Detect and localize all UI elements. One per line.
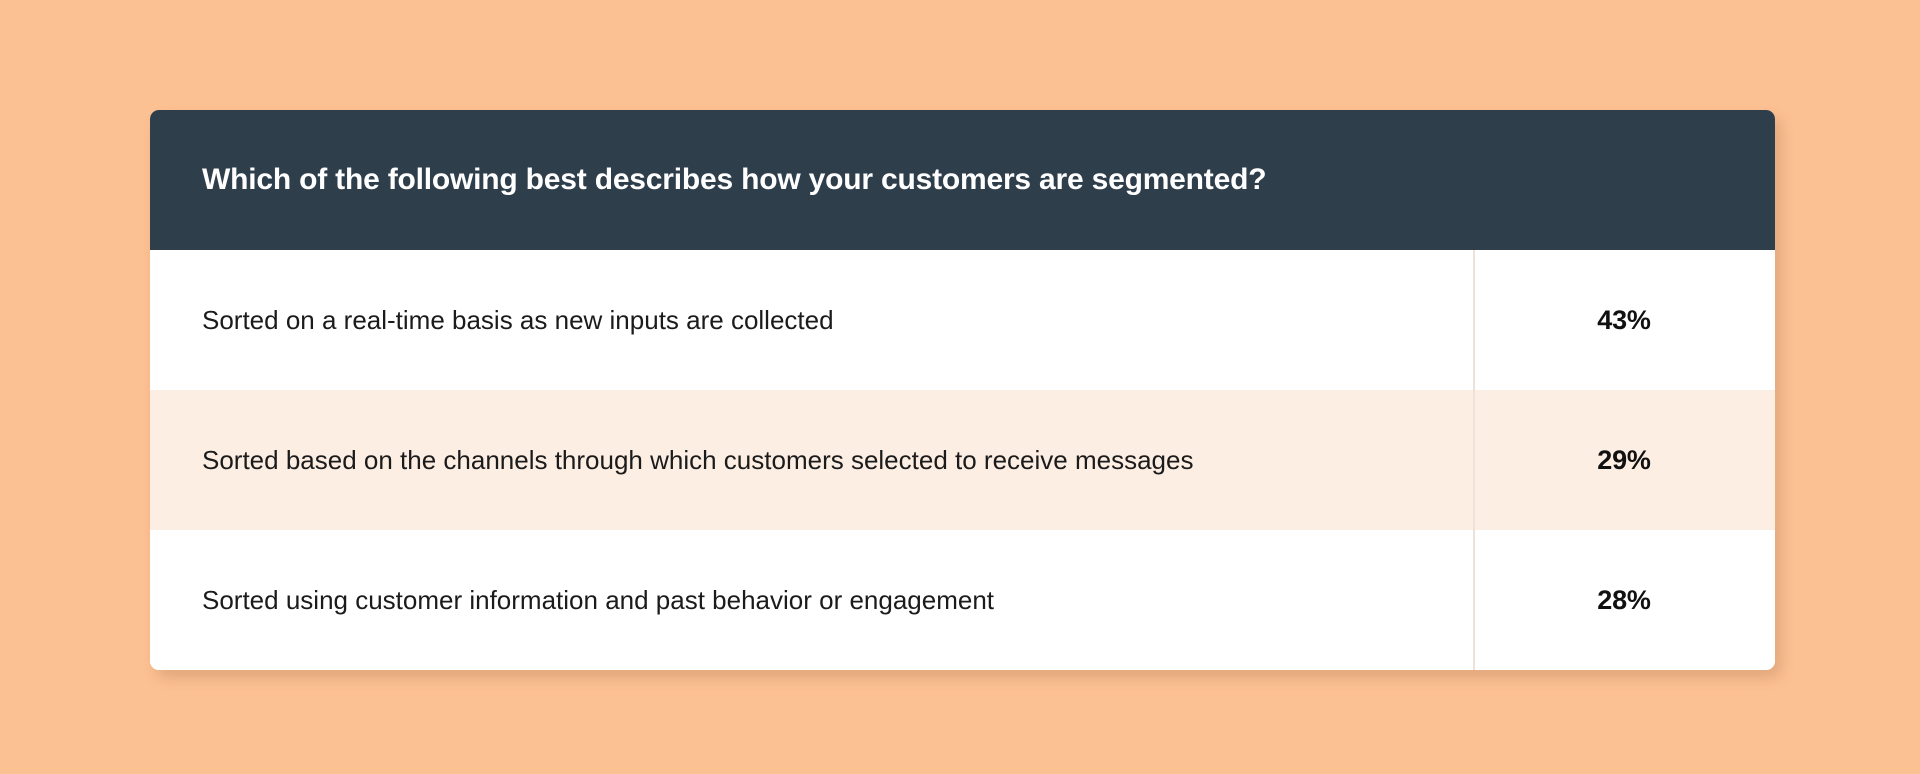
table-row: Sorted using customer information and pa… [150,530,1775,670]
answer-percentage: 28% [1473,530,1775,670]
answer-label: Sorted using customer information and pa… [150,530,1473,670]
table-row: Sorted based on the channels through whi… [150,390,1775,530]
page-title: Which of the following best describes ho… [202,162,1266,198]
page-canvas: Which of the following best describes ho… [0,0,1920,774]
answer-percentage: 29% [1473,390,1775,530]
card-header: Which of the following best describes ho… [150,110,1775,250]
answer-label: Sorted on a real-time basis as new input… [150,250,1473,390]
answer-label: Sorted based on the channels through whi… [150,390,1473,530]
results-table: Sorted on a real-time basis as new input… [150,250,1775,670]
answer-percentage: 43% [1473,250,1775,390]
survey-result-card: Which of the following best describes ho… [150,110,1775,670]
table-row: Sorted on a real-time basis as new input… [150,250,1775,390]
